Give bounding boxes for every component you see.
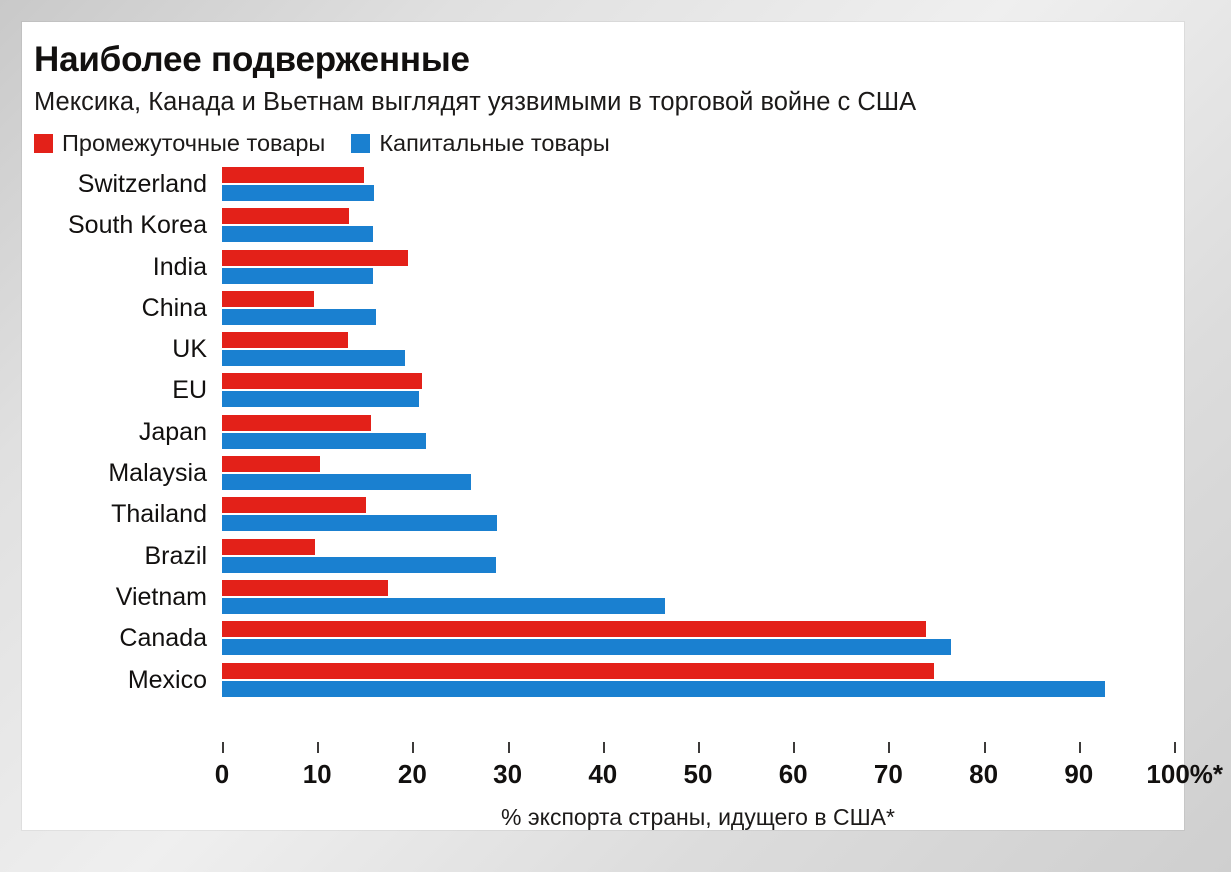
category-label-malaysia: Malaysia xyxy=(34,453,207,494)
bar-group xyxy=(222,164,1174,205)
x-tick xyxy=(793,742,795,753)
bar-group xyxy=(222,247,1174,288)
bar-intermediate[interactable] xyxy=(222,373,422,389)
bar-group xyxy=(222,660,1174,701)
x-axis-title: % экспорта страны, идущего в США* xyxy=(222,804,1174,831)
bar-intermediate[interactable] xyxy=(222,167,364,183)
bar-intermediate[interactable] xyxy=(222,539,315,555)
bar-row: South Korea xyxy=(34,205,1174,246)
bar-row: Thailand xyxy=(34,494,1174,535)
bar-intermediate[interactable] xyxy=(222,208,349,224)
x-tick xyxy=(984,742,986,753)
chart-legend: Промежуточные товары Капитальные товары xyxy=(34,128,1176,158)
x-tick-label: 40 xyxy=(588,759,617,790)
bar-group xyxy=(222,370,1174,411)
x-tick-label: 20 xyxy=(398,759,427,790)
category-label-south-korea: South Korea xyxy=(34,205,207,246)
category-label-switzerland: Switzerland xyxy=(34,164,207,205)
x-tick xyxy=(603,742,605,753)
bar-capital[interactable] xyxy=(222,350,405,366)
category-label-india: India xyxy=(34,247,207,288)
bar-rows: SwitzerlandSouth KoreaIndiaChinaUKEUJapa… xyxy=(34,164,1174,701)
page-title: Наиболее подверженные xyxy=(34,40,1176,80)
bar-row: UK xyxy=(34,329,1174,370)
category-label-japan: Japan xyxy=(34,412,207,453)
red-square-swatch xyxy=(34,134,53,153)
bar-group xyxy=(222,329,1174,370)
bar-intermediate[interactable] xyxy=(222,250,408,266)
bar-capital[interactable] xyxy=(222,515,497,531)
x-tick-label: 80 xyxy=(969,759,998,790)
category-label-eu: EU xyxy=(34,370,207,411)
bar-capital[interactable] xyxy=(222,226,373,242)
bar-capital[interactable] xyxy=(222,433,426,449)
chart-card: Наиболее подверженные Мексика, Канада и … xyxy=(22,22,1184,830)
x-tick-label: 0 xyxy=(215,759,229,790)
x-tick xyxy=(508,742,510,753)
legend-item-intermediate[interactable]: Промежуточные товары xyxy=(34,130,325,156)
bar-group xyxy=(222,618,1174,659)
x-tick xyxy=(888,742,890,753)
bar-group xyxy=(222,577,1174,618)
bar-capital[interactable] xyxy=(222,268,373,284)
bar-capital[interactable] xyxy=(222,557,496,573)
category-label-china: China xyxy=(34,288,207,329)
page-subtitle: Мексика, Канада и Вьетнам выглядят уязви… xyxy=(34,86,1176,118)
x-tick-label: 30 xyxy=(493,759,522,790)
bar-intermediate[interactable] xyxy=(222,497,366,513)
bar-capital[interactable] xyxy=(222,639,951,655)
x-tick-label: 50 xyxy=(684,759,713,790)
x-tick-label: 90 xyxy=(1064,759,1093,790)
bar-row: Vietnam xyxy=(34,577,1174,618)
bar-row: India xyxy=(34,247,1174,288)
bar-capital[interactable] xyxy=(222,185,374,201)
bar-intermediate[interactable] xyxy=(222,332,348,348)
x-tick xyxy=(222,742,224,753)
category-label-thailand: Thailand xyxy=(34,494,207,535)
x-tick-label: 70 xyxy=(874,759,903,790)
bar-group xyxy=(222,494,1174,535)
bar-intermediate[interactable] xyxy=(222,621,926,637)
bar-intermediate[interactable] xyxy=(222,580,388,596)
category-label-uk: UK xyxy=(34,329,207,370)
bar-capital[interactable] xyxy=(222,598,665,614)
bar-capital[interactable] xyxy=(222,309,376,325)
category-label-vietnam: Vietnam xyxy=(34,577,207,618)
bar-intermediate[interactable] xyxy=(222,415,371,431)
blue-square-swatch xyxy=(351,134,370,153)
legend-label-intermediate: Промежуточные товары xyxy=(62,130,325,156)
bar-row: Switzerland xyxy=(34,164,1174,205)
x-tick xyxy=(412,742,414,753)
bar-capital[interactable] xyxy=(222,681,1105,697)
bar-capital[interactable] xyxy=(222,474,471,490)
bar-row: Japan xyxy=(34,412,1174,453)
category-label-brazil: Brazil xyxy=(34,536,207,577)
legend-item-capital[interactable]: Капитальные товары xyxy=(351,130,609,156)
bar-group xyxy=(222,205,1174,246)
x-tick-label: 60 xyxy=(779,759,808,790)
bar-group xyxy=(222,288,1174,329)
bar-group xyxy=(222,536,1174,577)
bar-row: EU xyxy=(34,370,1174,411)
x-tick xyxy=(317,742,319,753)
category-label-mexico: Mexico xyxy=(34,660,207,701)
plot-area: SwitzerlandSouth KoreaIndiaChinaUKEUJapa… xyxy=(34,164,1174,764)
x-tick xyxy=(1174,742,1176,753)
bar-row: Brazil xyxy=(34,536,1174,577)
bar-row: Mexico xyxy=(34,660,1174,701)
bar-group xyxy=(222,412,1174,453)
bar-row: China xyxy=(34,288,1174,329)
bar-capital[interactable] xyxy=(222,391,419,407)
bar-intermediate[interactable] xyxy=(222,456,320,472)
legend-label-capital: Капитальные товары xyxy=(379,130,609,156)
screenshot-canvas: Наиболее подверженные Мексика, Канада и … xyxy=(0,0,1231,872)
bar-row: Malaysia xyxy=(34,453,1174,494)
chart-inner: Наиболее подверженные Мексика, Канада и … xyxy=(34,32,1176,824)
x-tick-label: 10 xyxy=(303,759,332,790)
category-label-canada: Canada xyxy=(34,618,207,659)
x-tick xyxy=(698,742,700,753)
bar-row: Canada xyxy=(34,618,1174,659)
bar-intermediate[interactable] xyxy=(222,663,934,679)
bar-intermediate[interactable] xyxy=(222,291,314,307)
x-tick-label: 100%* xyxy=(1146,759,1223,790)
bar-group xyxy=(222,453,1174,494)
x-tick xyxy=(1079,742,1081,753)
